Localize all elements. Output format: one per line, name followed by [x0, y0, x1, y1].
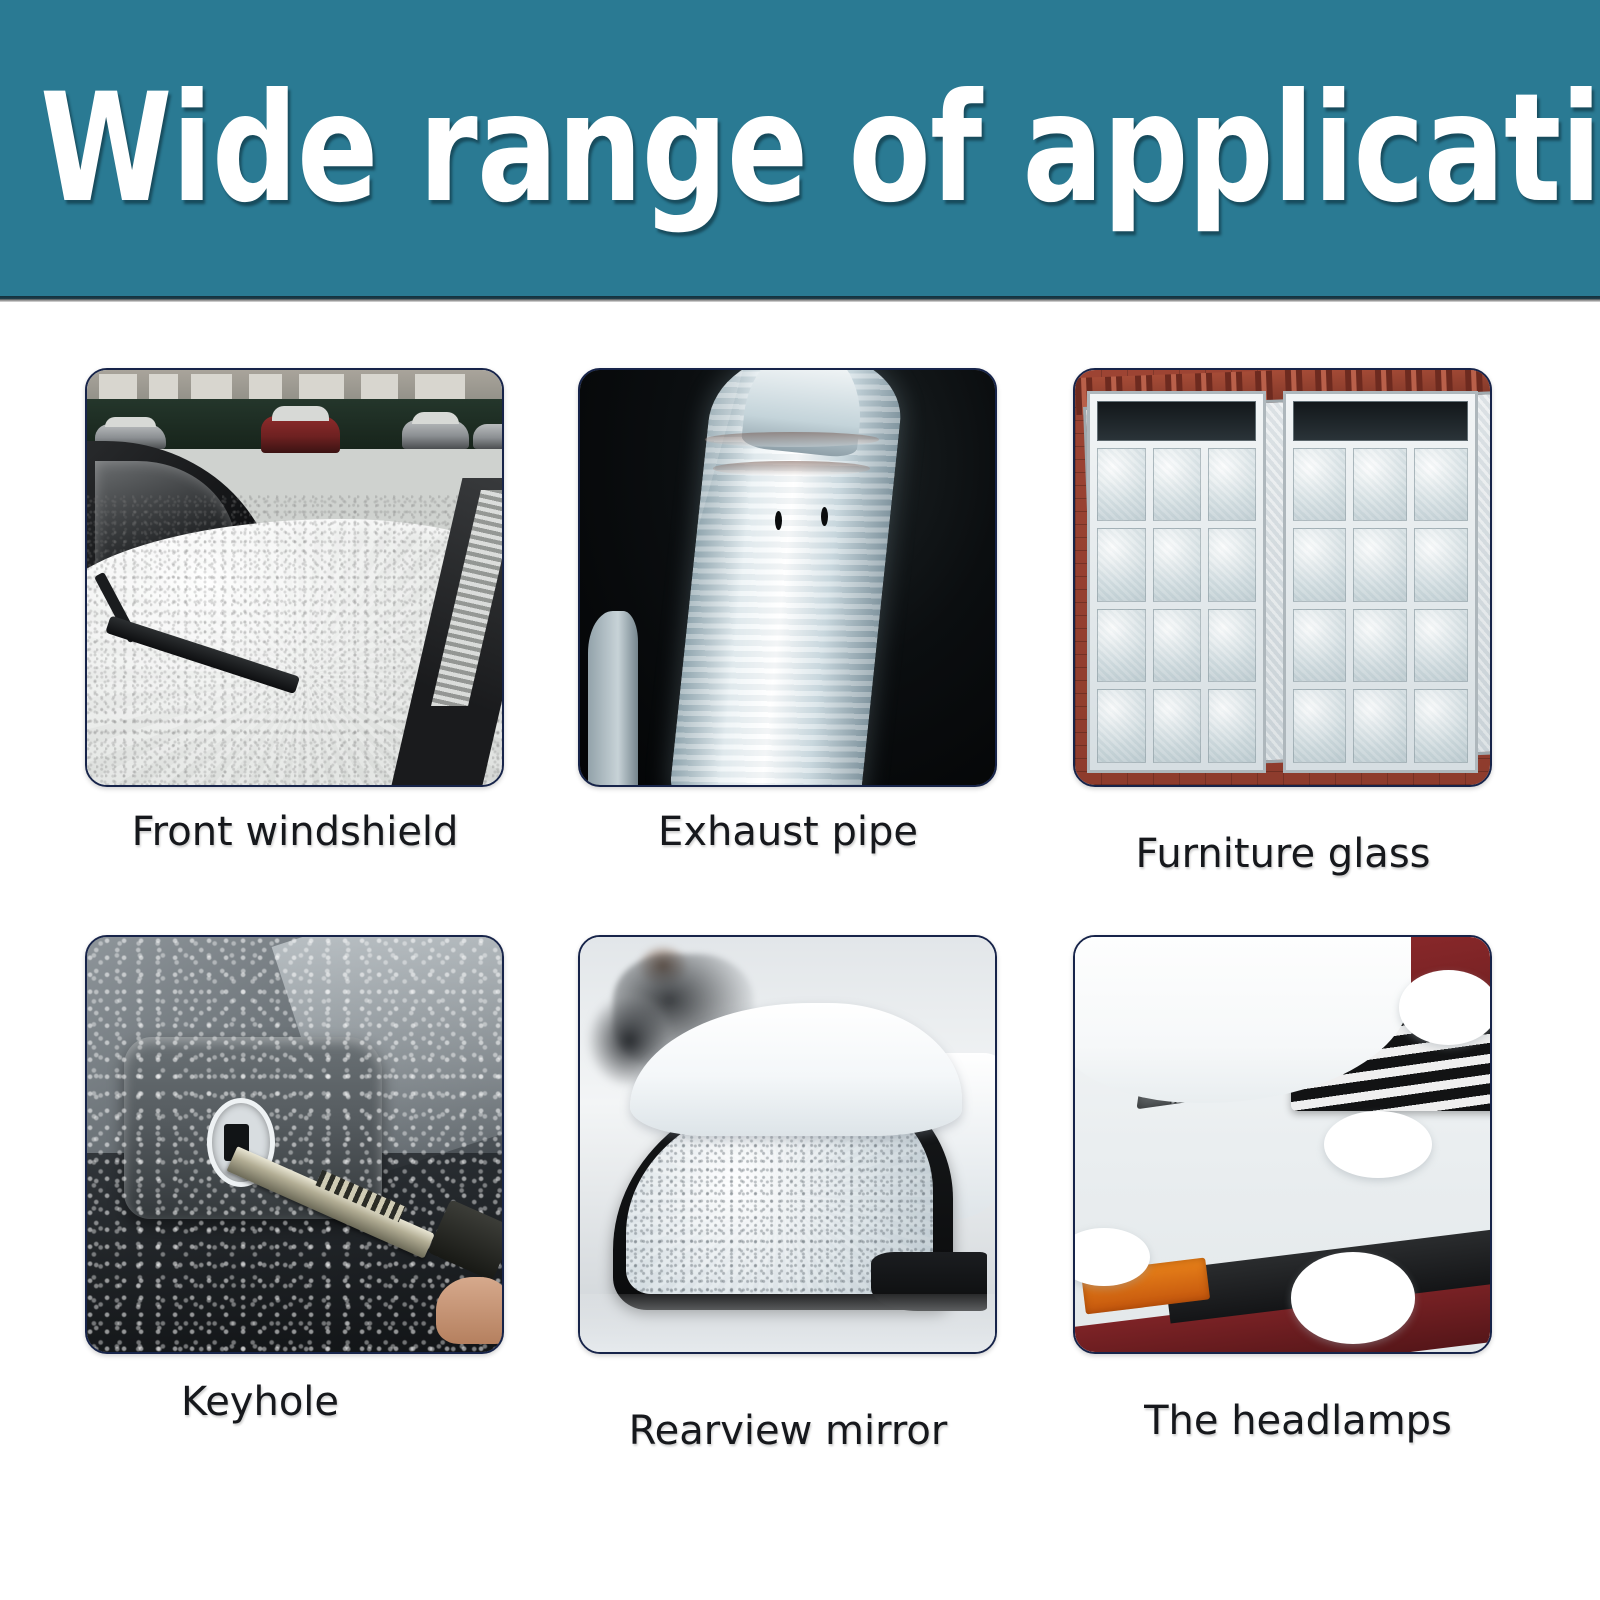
applications-gallery: Front windshield Exhaust pipe: [0, 302, 1600, 1600]
caption-keyhole: Keyhole: [25, 1378, 495, 1426]
photo-rearview-mirror: [580, 937, 995, 1352]
photo-card[interactable]: [578, 368, 997, 787]
photo-exhaust-pipe: [580, 370, 995, 785]
photo-card[interactable]: [1073, 368, 1492, 787]
page-title: Wide range of applications: [40, 74, 1256, 224]
photo-card[interactable]: [578, 935, 997, 1354]
photo-card[interactable]: [85, 368, 504, 787]
caption-furniture-glass: Furniture glass: [1048, 830, 1518, 878]
photo-the-headlamps: [1075, 937, 1490, 1352]
photo-card[interactable]: [1073, 935, 1492, 1354]
caption-front-windshield: Front windshield: [60, 808, 530, 856]
caption-the-headlamps: The headlamps: [1063, 1397, 1533, 1445]
caption-exhaust-pipe: Exhaust pipe: [553, 808, 1023, 856]
caption-rearview-mirror: Rearview mirror: [553, 1407, 1023, 1455]
photo-card[interactable]: [85, 935, 504, 1354]
photo-keyhole: [87, 937, 502, 1352]
photo-furniture-glass: [1075, 370, 1490, 785]
photo-front-windshield: [87, 370, 502, 785]
